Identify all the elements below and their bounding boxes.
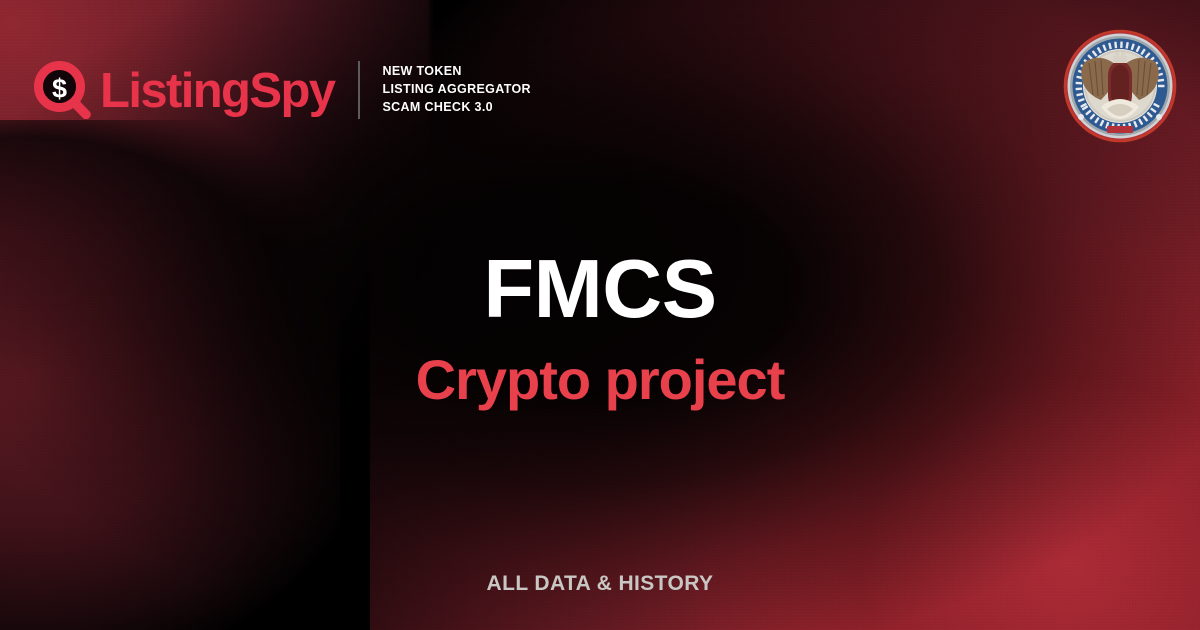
svg-text:$: $ [52, 74, 67, 104]
footer-caption: ALL DATA & HISTORY [487, 572, 714, 595]
brand-header[interactable]: $ ListingSpy NEW TOKEN LISTING AGGREGATO… [34, 50, 531, 130]
token-headline-block: FMCS Crypto project [0, 247, 1200, 408]
tagline-line-2: LISTING AGGREGATOR [382, 81, 530, 99]
footer-block: ALL DATA & HISTORY [0, 572, 1200, 596]
magnifier-dollar-icon: $ [34, 61, 92, 119]
header-divider [358, 61, 360, 119]
federal-agency-seal-icon [1063, 29, 1177, 143]
token-banner-card: $ ListingSpy NEW TOKEN LISTING AGGREGATO… [0, 0, 1200, 630]
tagline-line-1: NEW TOKEN [382, 63, 530, 81]
brand-tagline: NEW TOKEN LISTING AGGREGATOR SCAM CHECK … [382, 63, 530, 116]
token-symbol: FMCS [0, 247, 1200, 330]
tagline-line-3: SCAM CHECK 3.0 [382, 99, 530, 117]
brand-name: ListingSpy [100, 67, 334, 116]
token-kind: Crypto project [0, 352, 1200, 408]
